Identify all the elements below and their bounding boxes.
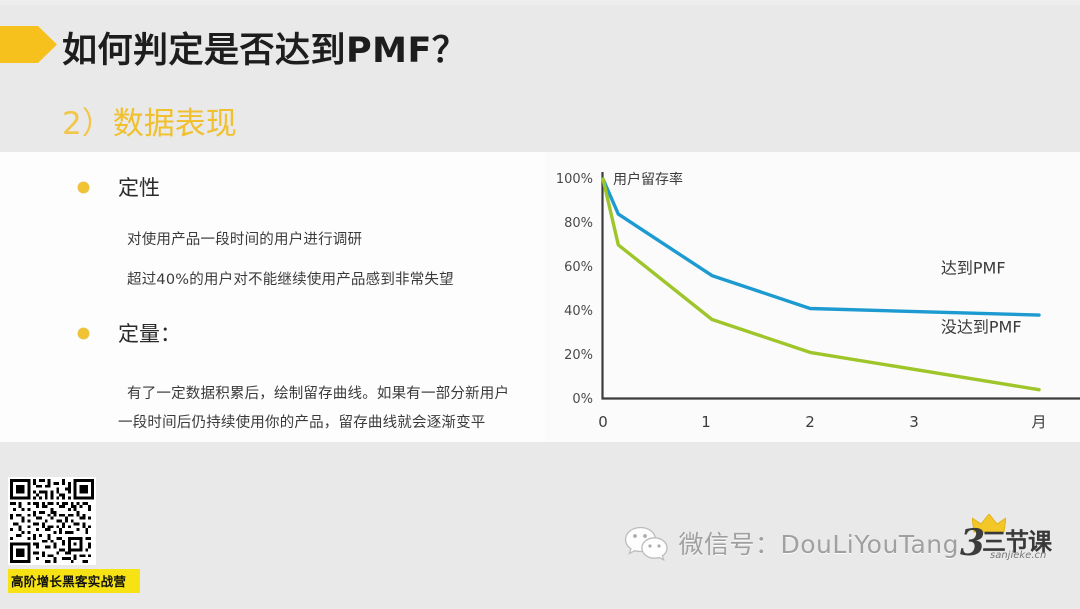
slide-header: 如何判定是否达到PMF？ — [0, 16, 1080, 78]
qr-code-image[interactable] — [8, 477, 96, 565]
slide-root: 如何判定是否达到PMF？ 2）数据表现 定性 对使用产品一段时间的用户进行调研 … — [0, 0, 1080, 609]
svg-text:40%: 40% — [564, 304, 593, 319]
qr-caption-label: 高阶增长黑客实战营 — [8, 569, 140, 593]
svg-text:80%: 80% — [564, 216, 593, 231]
svg-text:20%: 20% — [564, 348, 593, 363]
retention-curve-chart: 100% 80% 60% 40% 20% 0% 用户留存率 0 1 2 3 月 — [545, 152, 1080, 442]
wechat-icon — [623, 525, 669, 561]
bullet-dot-icon — [78, 182, 89, 193]
svg-text:60%: 60% — [564, 260, 593, 275]
arrow-marker-icon — [0, 26, 57, 63]
body-text-line: 超过40%的用户对不能继续使用产品感到非常失望 — [127, 268, 454, 289]
top-hairline — [0, 0, 1080, 5]
chart-svg: 100% 80% 60% 40% 20% 0% 用户留存率 0 1 2 3 月 — [545, 152, 1080, 442]
bullet-label: 定性 — [118, 172, 160, 202]
watermark: 微信号：DouLiYouTang 3 三节课 sanjieke.cn — [623, 520, 1072, 566]
svg-text:100%: 100% — [556, 172, 593, 187]
body-text-line: 对使用产品一段时间的用户进行调研 — [127, 228, 362, 249]
bullet-label: 定量： — [118, 318, 181, 348]
bullet-dot-icon — [78, 328, 89, 339]
svg-text:0: 0 — [598, 413, 608, 431]
svg-text:1: 1 — [701, 413, 711, 431]
chart-annotation-reached-pmf: 达到PMF — [941, 258, 1006, 277]
logo-url: sanjieke.cn — [990, 550, 1046, 561]
svg-text:月: 月 — [1031, 413, 1046, 431]
body-text-line: 有了一定数据积累后，绘制留存曲线。如果有一部分新用户 — [127, 382, 509, 403]
body-text-line: 一段时间后仍持续使用你的产品，留存曲线就会逐渐变平 — [118, 411, 486, 432]
section-subtitle: 2）数据表现 — [62, 98, 237, 143]
chart-annotation-not-reached-pmf: 没达到PMF — [941, 318, 1022, 337]
svg-text:3: 3 — [909, 413, 919, 431]
wechat-id-label: 微信号：DouLiYouTang — [678, 525, 959, 561]
svg-text:2: 2 — [805, 413, 815, 431]
chart-title: 用户留存率 — [613, 171, 683, 188]
qr-block: 高阶增长黑客实战营 — [8, 477, 96, 593]
section-subtitle-text: 数据表现 — [113, 106, 237, 142]
page-title: 如何判定是否达到PMF？ — [62, 22, 467, 73]
bullet-item-qualitative: 定性 — [78, 172, 160, 202]
section-number: 2） — [62, 106, 113, 142]
bullet-item-quantitative: 定量： — [78, 318, 181, 348]
sanjieke-logo: 3 三节课 sanjieke.cn — [954, 520, 1072, 566]
svg-text:0%: 0% — [572, 392, 593, 407]
slide-footer: 高阶增长黑客实战营 微信号：DouLiYouTang 3 三节课 — [0, 442, 1080, 609]
